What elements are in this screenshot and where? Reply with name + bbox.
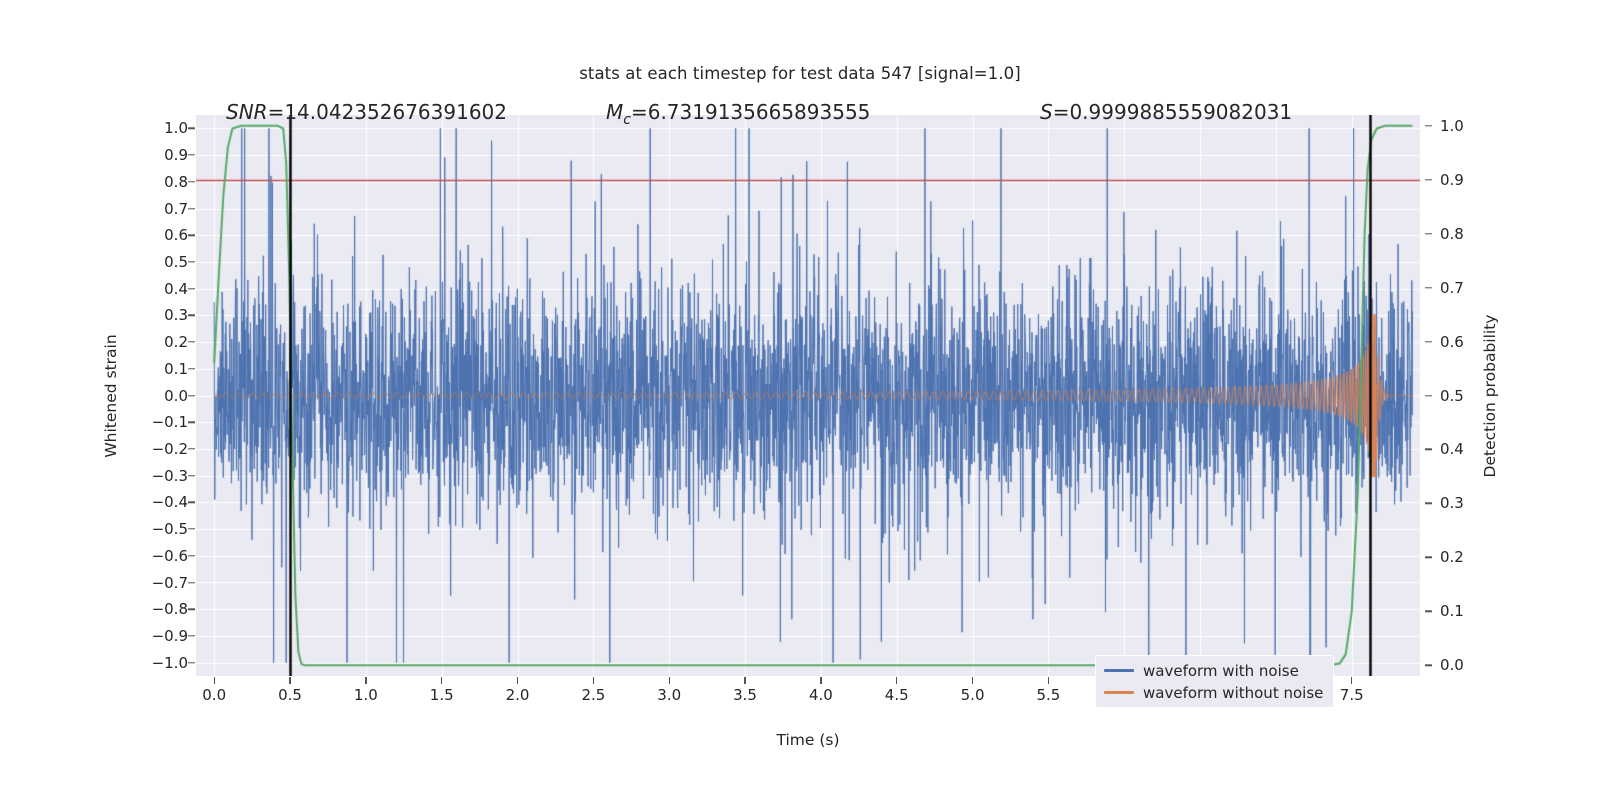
y-tick-label-right: 0.4	[1440, 440, 1464, 458]
x-axis-label: Time (s)	[776, 731, 839, 749]
x-tick-label: 0.5	[278, 686, 302, 704]
x-tick-label: 3.0	[657, 686, 681, 704]
y-tick-mark-right	[1425, 125, 1432, 126]
y-tick-label-left: 0.2	[164, 333, 188, 351]
y-tick-mark-right	[1425, 557, 1432, 558]
y-tick-mark-right	[1425, 233, 1432, 234]
legend-item: waveform without noise	[1104, 684, 1323, 701]
y-tick-label-left: 0.9	[164, 146, 188, 164]
y-tick-mark-left	[188, 261, 195, 262]
y-tick-label-left: 0.4	[164, 280, 188, 298]
y-axis-label-left: Whitened strain	[102, 334, 120, 457]
x-tick-mark	[593, 677, 594, 684]
x-tick-mark	[1351, 677, 1352, 684]
y-tick-mark-right	[1425, 611, 1432, 612]
y-tick-label-right: 0.6	[1440, 333, 1464, 351]
legend-label: waveform without noise	[1143, 684, 1323, 702]
legend-item: waveform with noise	[1104, 662, 1323, 679]
legend-swatch	[1104, 691, 1134, 694]
x-tick-label: 4.5	[885, 686, 909, 704]
y-tick-mark-left	[188, 235, 195, 236]
y-tick-mark-left	[188, 662, 195, 663]
y-tick-label-right: 0.7	[1440, 279, 1464, 297]
y-tick-mark-left	[188, 582, 195, 583]
y-tick-mark-right	[1425, 503, 1432, 504]
x-tick-label: 0.0	[202, 686, 226, 704]
y-tick-mark-right	[1425, 179, 1432, 180]
y-tick-mark-left	[188, 609, 195, 610]
y-tick-label-left: −0.4	[152, 493, 188, 511]
x-tick-label: 2.5	[581, 686, 605, 704]
x-tick-mark	[214, 677, 215, 684]
x-tick-label: 7.5	[1340, 686, 1364, 704]
y-tick-mark-left	[188, 288, 195, 289]
y-tick-label-right: 0.8	[1440, 225, 1464, 243]
y-tick-mark-right	[1425, 449, 1432, 450]
y-tick-mark-right	[1425, 287, 1432, 288]
y-tick-label-left: −0.9	[152, 627, 188, 645]
y-tick-label-right: 0.5	[1440, 387, 1464, 405]
legend-swatch	[1104, 669, 1134, 672]
x-tick-mark	[289, 677, 290, 684]
chart-title: stats at each timestep for test data 547…	[0, 64, 1600, 83]
x-tick-label: 4.0	[809, 686, 833, 704]
y-tick-label-left: −0.2	[152, 440, 188, 458]
y-tick-mark-left	[188, 528, 195, 529]
y-tick-label-left: −0.1	[152, 413, 188, 431]
x-tick-mark	[1048, 677, 1049, 684]
y-tick-label-left: 0.1	[164, 360, 188, 378]
y-tick-label-right: 0.3	[1440, 494, 1464, 512]
y-tick-label-left: −0.6	[152, 547, 188, 565]
y-tick-mark-left	[188, 128, 195, 129]
y-tick-mark-left	[188, 315, 195, 316]
y-tick-mark-left	[188, 635, 195, 636]
y-tick-mark-left	[188, 181, 195, 182]
y-tick-label-left: 0.7	[164, 200, 188, 218]
y-tick-mark-left	[188, 154, 195, 155]
y-tick-label-left: 0.0	[164, 387, 188, 405]
x-tick-mark	[365, 677, 366, 684]
y-tick-mark-left	[188, 368, 195, 369]
y-tick-label-left: −0.7	[152, 574, 188, 592]
y-tick-mark-right	[1425, 665, 1432, 666]
y-tick-mark-left	[188, 448, 195, 449]
y-tick-mark-left	[188, 422, 195, 423]
y-tick-label-right: 0.0	[1440, 656, 1464, 674]
plot-canvas	[196, 115, 1420, 676]
legend: waveform with noisewaveform without nois…	[1095, 655, 1334, 708]
y-tick-label-left: 0.8	[164, 173, 188, 191]
y-tick-label-right: 1.0	[1440, 117, 1464, 135]
x-tick-label: 1.0	[354, 686, 378, 704]
y-tick-label-right: 0.1	[1440, 602, 1464, 620]
y-tick-label-left: 1.0	[164, 119, 188, 137]
x-tick-mark	[972, 677, 973, 684]
y-tick-mark-left	[188, 341, 195, 342]
y-tick-label-left: −0.5	[152, 520, 188, 538]
y-tick-label-right: 0.9	[1440, 171, 1464, 189]
y-tick-label-left: −0.3	[152, 467, 188, 485]
y-tick-mark-left	[188, 208, 195, 209]
x-tick-label: 5.5	[1036, 686, 1060, 704]
y-tick-mark-left	[188, 555, 195, 556]
x-tick-mark	[744, 677, 745, 684]
figure: stats at each timestep for test data 547…	[0, 0, 1600, 800]
plot-area	[196, 115, 1420, 676]
y-tick-label-left: −0.8	[152, 600, 188, 618]
x-tick-label: 5.0	[961, 686, 985, 704]
x-tick-label: 1.5	[430, 686, 454, 704]
y-tick-mark-right	[1425, 341, 1432, 342]
y-tick-label-left: 0.5	[164, 253, 188, 271]
y-tick-label-right: 0.2	[1440, 548, 1464, 566]
y-tick-mark-left	[188, 475, 195, 476]
x-tick-mark	[517, 677, 518, 684]
x-tick-label: 3.5	[733, 686, 757, 704]
y-tick-label-left: 0.6	[164, 226, 188, 244]
x-tick-label: 2.0	[506, 686, 530, 704]
x-tick-mark	[896, 677, 897, 684]
annotation-snr: SNR=14.042352676391602	[226, 100, 507, 124]
y-tick-label-left: −1.0	[152, 654, 188, 672]
x-tick-mark	[441, 677, 442, 684]
y-tick-mark-left	[188, 395, 195, 396]
y-tick-mark-left	[188, 502, 195, 503]
annotation-mc: Mc=6.7319135665893555	[606, 100, 870, 128]
x-tick-mark	[820, 677, 821, 684]
y-tick-label-left: 0.3	[164, 306, 188, 324]
y-axis-label-right: Detection probability	[1481, 315, 1499, 478]
y-tick-mark-right	[1425, 395, 1432, 396]
x-tick-mark	[669, 677, 670, 684]
legend-label: waveform with noise	[1143, 662, 1299, 680]
annotation-prob: S=0.9999885559082031	[1040, 100, 1292, 124]
